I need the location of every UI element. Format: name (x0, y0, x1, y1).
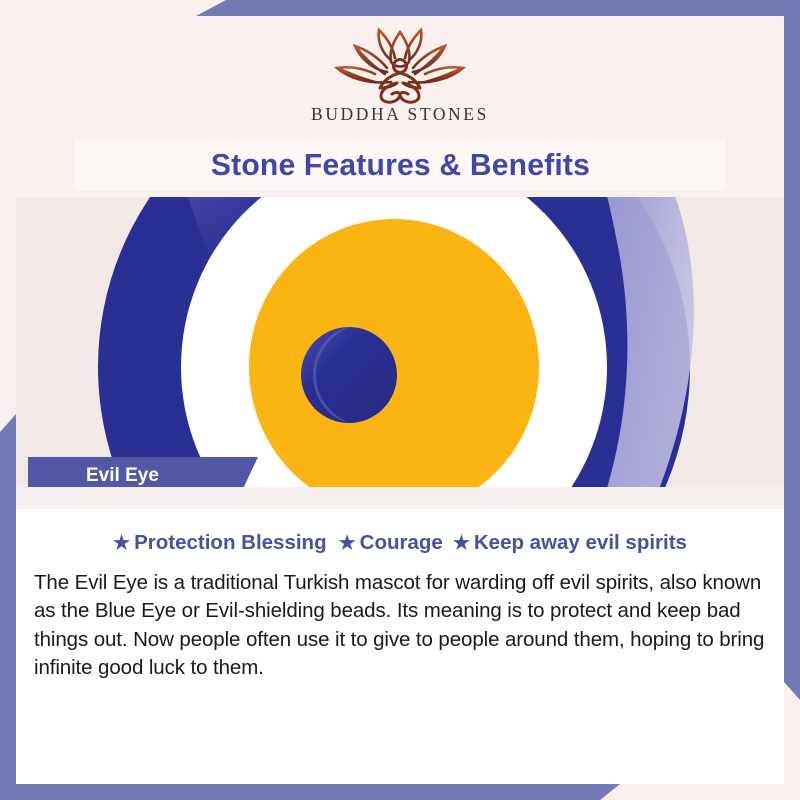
content-card: BUDDHA STONES Stone Features & Benefits (16, 16, 784, 784)
frame-band-bottom (0, 784, 620, 800)
star-icon: ★ (113, 534, 130, 553)
divider-strip (16, 487, 784, 509)
lotus-meditation-icon (325, 26, 475, 106)
feature-item-0: ★ Protection Blessing (113, 531, 327, 555)
description-text: The Evil Eye is a traditional Turkish ma… (34, 569, 766, 682)
feature-item-1: ★ Courage (339, 531, 443, 555)
star-icon: ★ (453, 534, 470, 553)
brand-name: BUDDHA STONES (311, 104, 489, 125)
brand-header: BUDDHA STONES (16, 16, 784, 140)
evil-eye-graphic (16, 197, 784, 487)
hero-label-text: Evil Eye (86, 465, 159, 487)
frame-band-top (196, 0, 800, 16)
feature-label: Protection Blessing (134, 531, 327, 555)
star-icon: ★ (339, 534, 356, 553)
feature-item-2: ★ Keep away evil spirits (453, 531, 687, 555)
page-title: Stone Features & Benefits (210, 147, 589, 183)
infographic-page: BUDDHA STONES Stone Features & Benefits (0, 0, 800, 800)
content-section: ★ Protection Blessing ★ Courage ★ Keep a… (16, 509, 784, 784)
frame-band-right (784, 0, 800, 700)
frame-band-left (0, 414, 16, 800)
hero-image (16, 197, 784, 487)
title-banner: Stone Features & Benefits (74, 139, 726, 191)
feature-list: ★ Protection Blessing ★ Courage ★ Keep a… (16, 531, 784, 555)
feature-label: Courage (360, 531, 443, 555)
feature-label: Keep away evil spirits (474, 531, 687, 555)
